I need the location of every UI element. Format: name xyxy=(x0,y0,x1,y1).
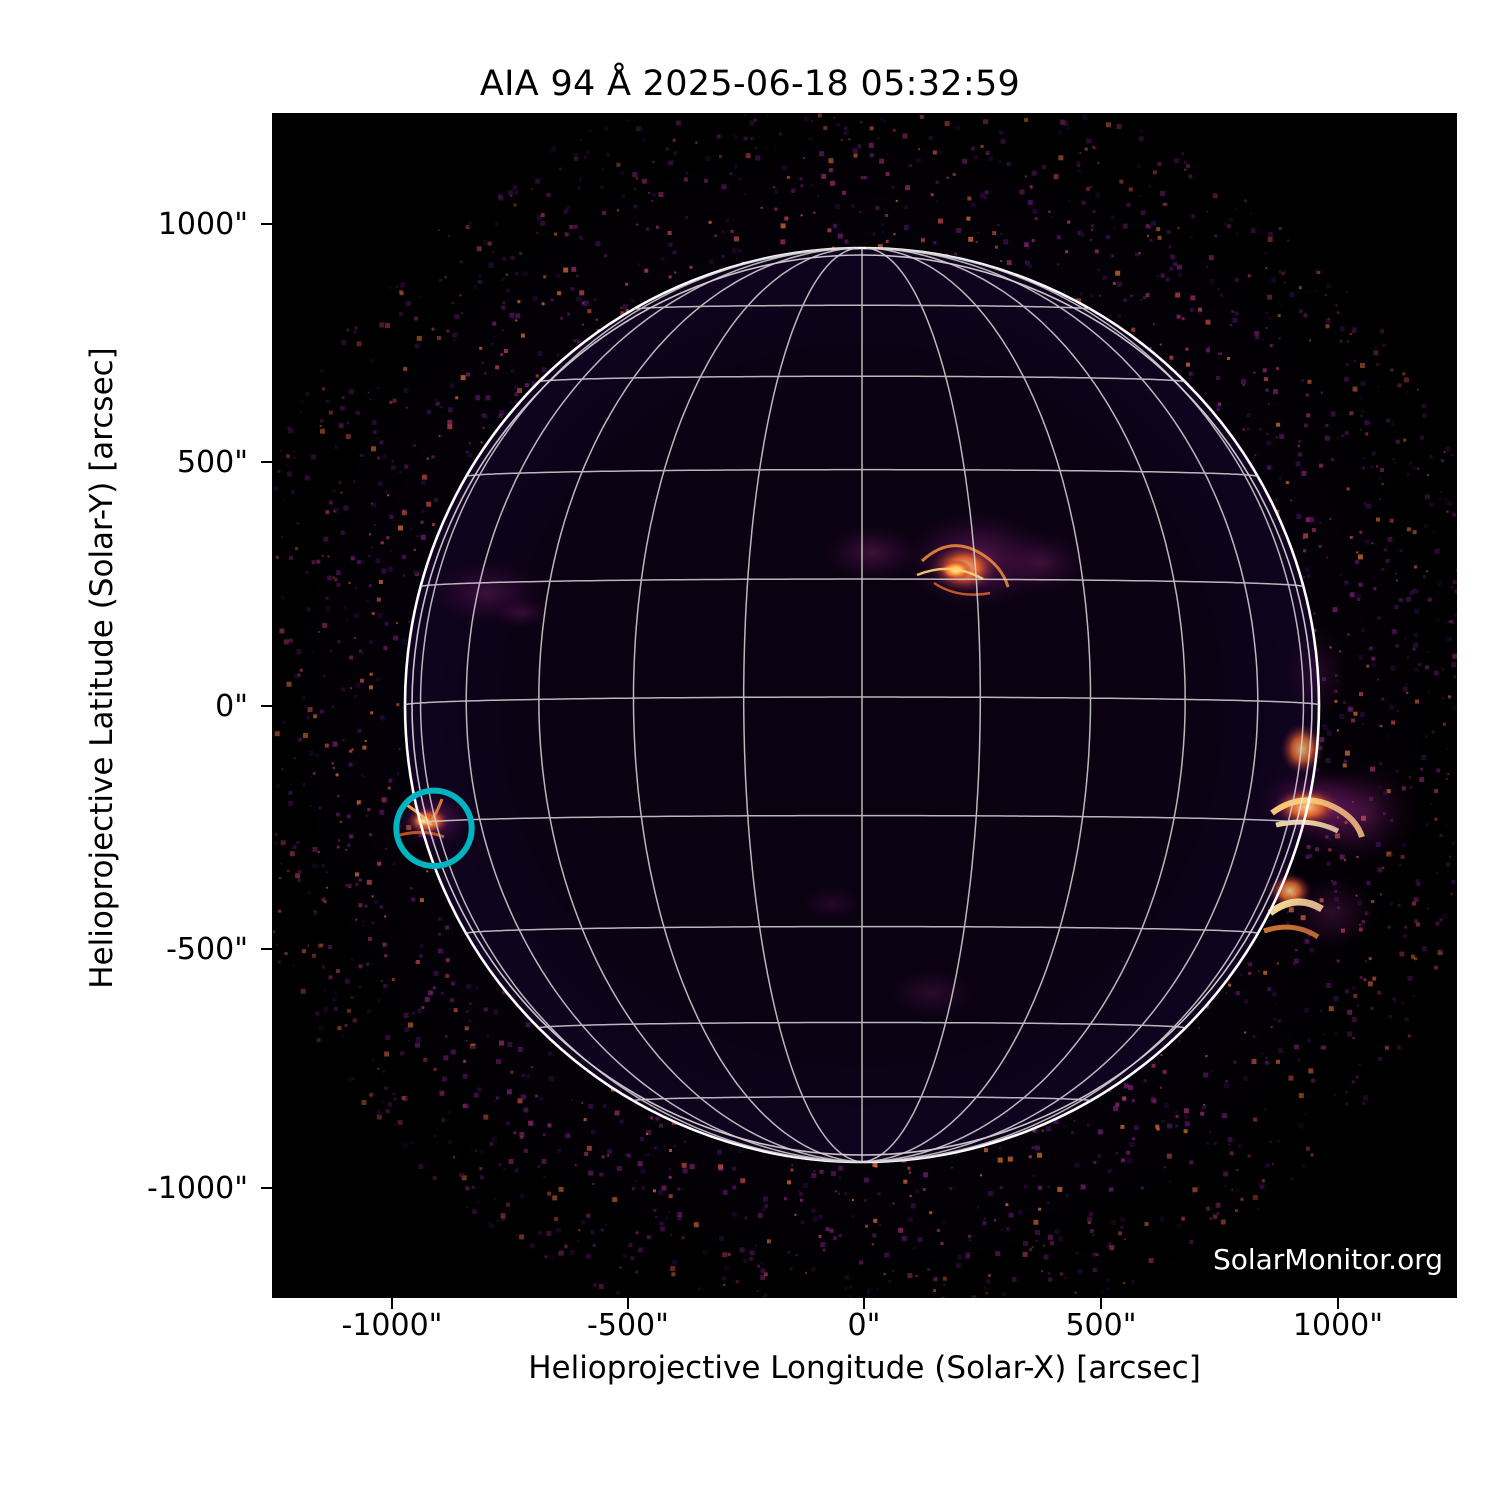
xtick-label: 1000" xyxy=(1248,1308,1428,1343)
xtick-label: 500" xyxy=(1011,1308,1191,1343)
solar-disk-plot xyxy=(272,113,1457,1298)
ytick-label: 1000" xyxy=(98,207,248,242)
x-axis-label: Helioprojective Longitude (Solar-X) [arc… xyxy=(272,1350,1457,1386)
ytick-label: -1000" xyxy=(98,1171,248,1206)
solar-image-figure: AIA 94 Å 2025-06-18 05:32:59 xyxy=(0,0,1500,1500)
ytick-label: -500" xyxy=(98,932,248,967)
ytick-mark xyxy=(261,223,272,225)
ytick-mark xyxy=(261,461,272,463)
ytick-label: 500" xyxy=(98,445,248,480)
xtick-label: -1000" xyxy=(302,1308,482,1343)
solar-image-panel: SolarMonitor.org xyxy=(272,113,1457,1298)
page-title: AIA 94 Å 2025-06-18 05:32:59 xyxy=(0,64,1500,104)
xtick-label: 0" xyxy=(774,1308,954,1343)
ytick-label: 0" xyxy=(98,689,248,724)
y-axis-label: Helioprojective Latitude (Solar-Y) [arcs… xyxy=(84,218,120,1118)
ytick-mark xyxy=(261,705,272,707)
ytick-mark xyxy=(261,1187,272,1189)
ytick-mark xyxy=(261,948,272,950)
xtick-label: -500" xyxy=(538,1308,718,1343)
